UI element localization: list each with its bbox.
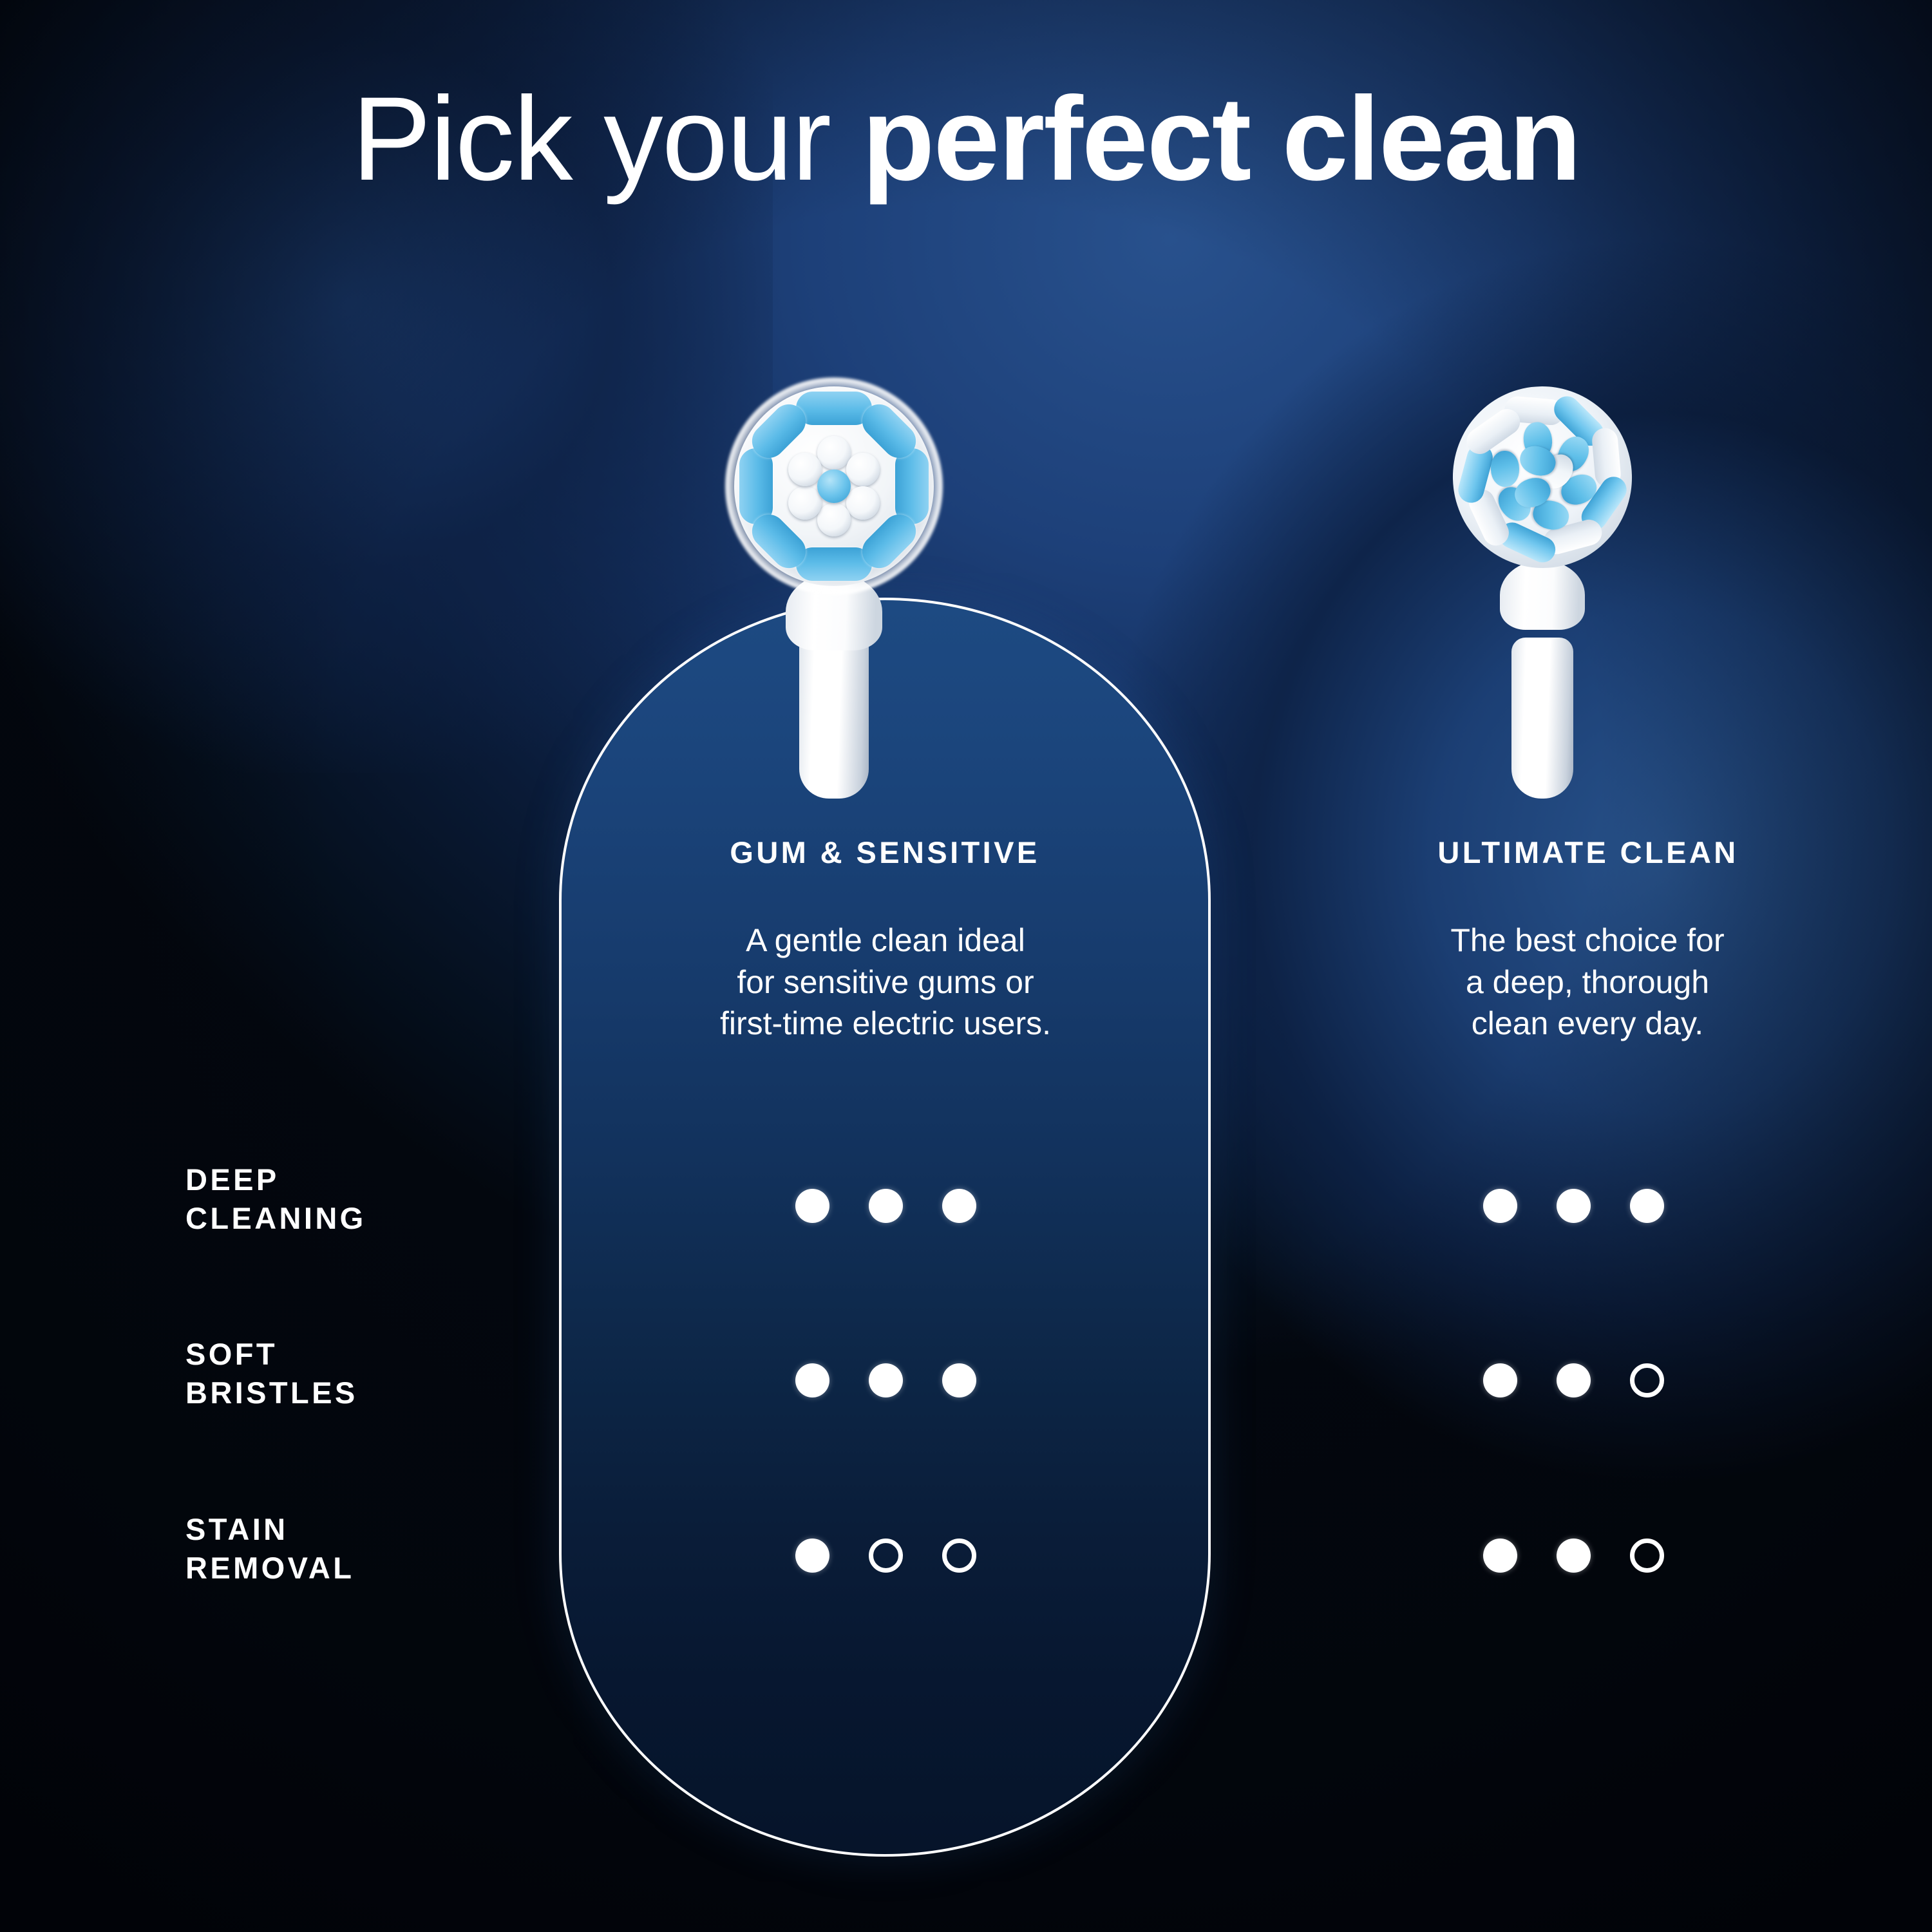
rating-dot-empty: [1630, 1363, 1664, 1397]
feature-label-stain-removal: STAINREMOVAL: [185, 1510, 354, 1587]
rating-dot-filled: [1483, 1363, 1517, 1397]
bristle-ring-segment: [739, 448, 773, 524]
rating-dot-filled: [869, 1363, 903, 1397]
bristle-tuft: [788, 453, 822, 486]
feature-label-line: DEEP: [185, 1160, 366, 1199]
rating-dot-filled: [795, 1189, 829, 1223]
description-line: A gentle clean ideal: [599, 920, 1172, 961]
rating-dot-filled: [1557, 1363, 1591, 1397]
product-image-ultimate-clean: [1449, 386, 1636, 799]
rating-dots: [795, 1539, 976, 1573]
round-brush-head-icon: [734, 386, 934, 586]
bristle-blade: [1462, 404, 1525, 459]
rating-dot-empty: [942, 1539, 976, 1573]
rating-dot-empty: [869, 1539, 903, 1573]
bristle-tuft: [1490, 450, 1520, 488]
rating-dot-filled: [1557, 1539, 1591, 1573]
column-heading-gum-sensitive: GUM & SENSITIVE: [559, 835, 1211, 870]
rating-dots: [795, 1189, 976, 1223]
rating-dot-filled: [1483, 1539, 1517, 1573]
rating-dots: [1483, 1363, 1664, 1397]
feature-label-line: STAIN: [185, 1510, 354, 1549]
rating-dots: [1483, 1539, 1664, 1573]
brush-handle: [1511, 638, 1573, 799]
feature-label-line: SOFT: [185, 1335, 358, 1374]
rating-dot-filled: [942, 1189, 976, 1223]
description-line: The best choice for: [1327, 920, 1848, 961]
rating-dot-filled: [942, 1363, 976, 1397]
feature-label-deep-cleaning: DEEPCLEANING: [185, 1160, 366, 1238]
title-light-text: Pick your: [352, 73, 862, 205]
column-description-ultimate-clean: The best choice fora deep, thoroughclean…: [1327, 920, 1848, 1045]
rating-dots: [1483, 1189, 1664, 1223]
page-title: Pick your perfect clean: [0, 76, 1932, 202]
angled-brush-head-icon: [1443, 376, 1642, 578]
product-image-gum-sensitive: [728, 386, 940, 799]
description-line: first-time electric users.: [599, 1003, 1172, 1045]
bristle-tuft: [846, 486, 880, 520]
column-heading-ultimate-clean: ULTIMATE CLEAN: [1262, 835, 1914, 870]
rating-dot-filled: [1557, 1189, 1591, 1223]
rating-dot-filled: [795, 1363, 829, 1397]
bristle-tuft: [817, 436, 851, 469]
feature-label-soft-bristles: SOFTBRISTLES: [185, 1335, 358, 1412]
bristle-tuft: [788, 486, 822, 520]
bristle-tuft: [817, 503, 851, 536]
rating-dot-filled: [1630, 1189, 1664, 1223]
rating-dot-filled: [869, 1189, 903, 1223]
rating-dot-filled: [1483, 1189, 1517, 1223]
title-bold-text: perfect clean: [862, 73, 1580, 205]
feature-label-line: BRISTLES: [185, 1374, 358, 1412]
bristle-ring-segment: [796, 547, 872, 581]
bristle-ring-segment: [796, 392, 872, 425]
brush-neck: [1500, 560, 1585, 630]
description-line: for sensitive gums or: [599, 961, 1172, 1003]
bristle-ring-segment: [895, 448, 929, 524]
description-line: a deep, thorough: [1327, 961, 1848, 1003]
description-line: clean every day.: [1327, 1003, 1848, 1045]
rating-dots: [795, 1363, 976, 1397]
rating-dot-filled: [795, 1539, 829, 1573]
bristle-tuft: [846, 453, 880, 486]
feature-label-line: CLEANING: [185, 1199, 366, 1238]
rating-dot-empty: [1630, 1539, 1664, 1573]
column-description-gum-sensitive: A gentle clean idealfor sensitive gums o…: [599, 920, 1172, 1045]
bristle-tuft-center: [817, 469, 851, 503]
feature-label-line: REMOVAL: [185, 1549, 354, 1587]
